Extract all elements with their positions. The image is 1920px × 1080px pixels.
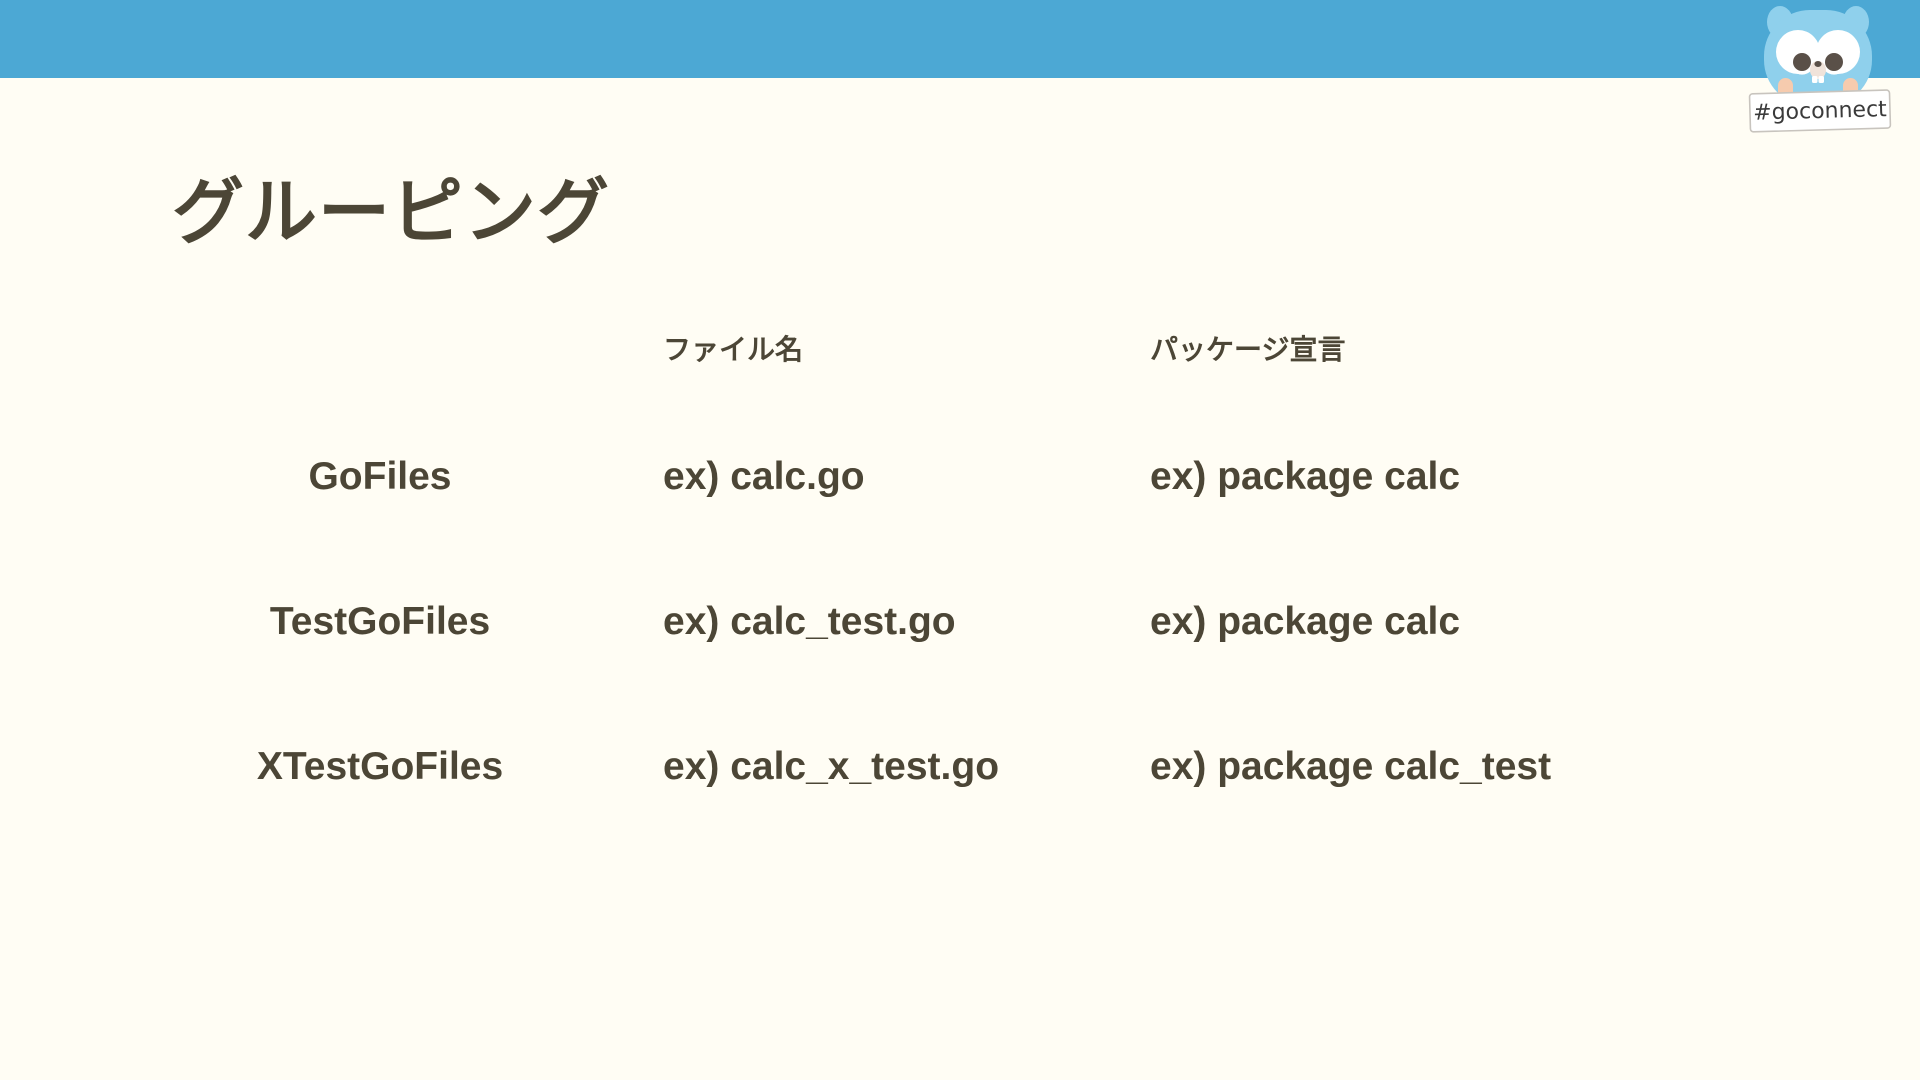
top-accent-bar — [0, 0, 1920, 78]
row-package-value: ex) package calc — [1150, 455, 1460, 499]
row-filename-value: ex) calc.go — [663, 455, 865, 499]
row-package-value: ex) package calc_test — [1150, 745, 1551, 789]
row-package-value: ex) package calc — [1150, 600, 1460, 644]
row-filename-value: ex) calc_test.go — [663, 600, 956, 644]
row-group-label: TestGoFiles — [215, 600, 545, 644]
row-group-label: XTestGoFiles — [215, 745, 545, 789]
goconnect-hashtag-text: #goconnect — [1753, 97, 1888, 126]
column-header-package: パッケージ宣言 — [1150, 328, 1345, 368]
goconnect-badge: #goconnect — [1728, 0, 1908, 140]
page-title: グルーピング — [172, 176, 610, 248]
row-group-label: GoFiles — [215, 455, 545, 499]
column-header-filename: ファイル名 — [663, 328, 803, 368]
row-filename-value: ex) calc_x_test.go — [663, 745, 999, 789]
